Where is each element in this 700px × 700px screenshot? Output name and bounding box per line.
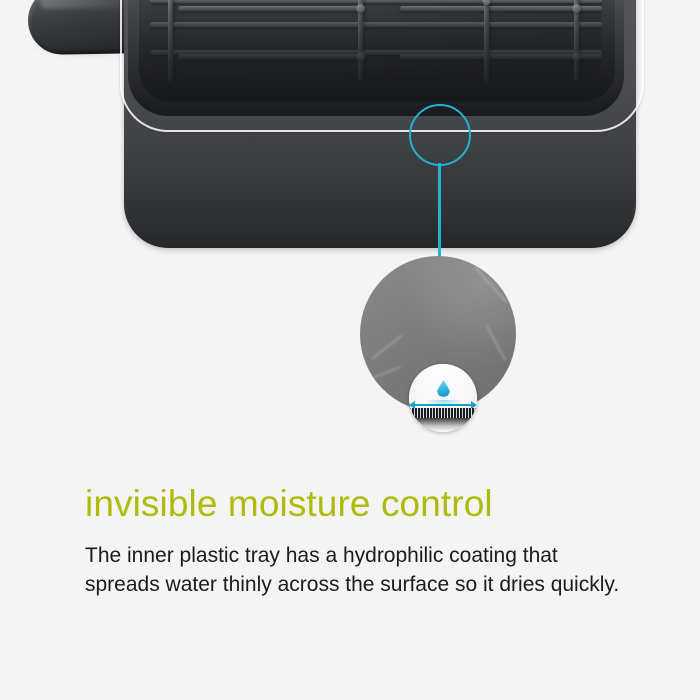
- product-feature-panel: invisible moisture control The inner pla…: [0, 0, 700, 700]
- grid-wire-horizontal: [150, 22, 602, 27]
- grid-node: [572, 4, 581, 13]
- product-photo: [0, 0, 700, 460]
- feature-headline: invisible moisture control: [85, 481, 493, 527]
- callout-marker-circle: [409, 104, 471, 166]
- coating-cross-section-inset: [409, 364, 477, 432]
- surface-streak: [486, 325, 507, 361]
- grid-rung: [178, 54, 360, 59]
- grid-wire-vertical: [168, 0, 173, 82]
- feature-description: The inner plastic tray has a hydrophilic…: [85, 541, 625, 599]
- water-spreading-arrow-icon: [413, 404, 473, 406]
- tray-substrate-layer: [409, 418, 477, 432]
- tray-basin: [150, 0, 602, 82]
- surface-streak: [371, 335, 402, 360]
- grid-wire-vertical: [484, 0, 489, 82]
- grid-node: [572, 52, 581, 61]
- grid-wire-horizontal: [150, 0, 602, 3]
- grid-node: [356, 4, 365, 13]
- basin-shading: [150, 0, 602, 82]
- callout-leader-line: [438, 163, 441, 259]
- grid-rung: [178, 6, 360, 11]
- grid-node: [356, 52, 365, 61]
- surface-streak: [360, 366, 401, 384]
- hydrophilic-coating-layer: [409, 408, 477, 418]
- dish-rack-tray: [124, 0, 636, 248]
- surface-streak: [475, 267, 507, 303]
